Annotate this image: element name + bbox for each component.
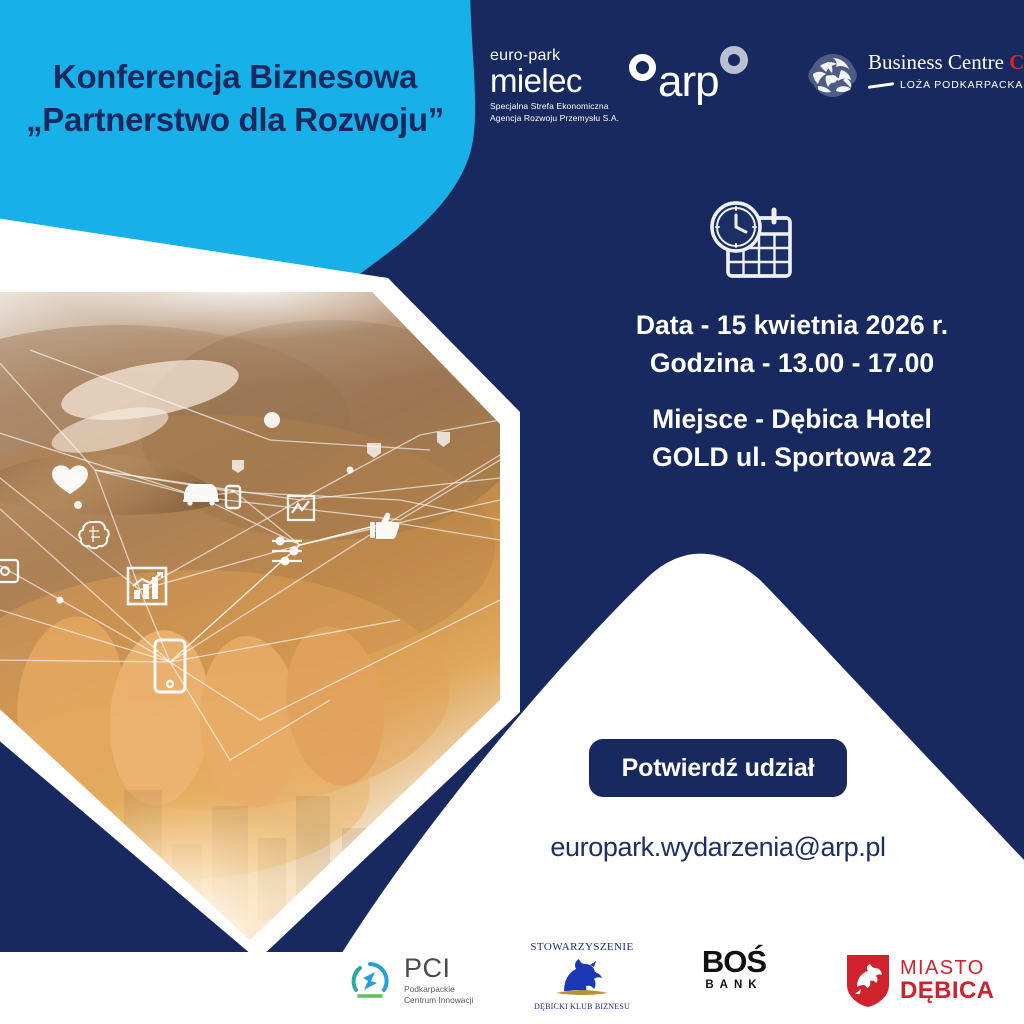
- europark-ring-icon: [629, 54, 656, 81]
- bcc-name: Business Centre Club: [868, 52, 1024, 73]
- debica-line-1: MIASTO: [900, 958, 994, 978]
- bos-wordmark: BOŚ: [682, 948, 786, 976]
- pci-sub: Podkarpackie Centrum Innowacji: [404, 984, 473, 1006]
- partner-logo-row: euro-park mielec Specjalna Strefa Ekonom…: [490, 42, 1024, 134]
- skb-top-text: STOWARZYSZENIE: [528, 942, 636, 953]
- bos-bank-logo: BOŚ BANK: [682, 948, 786, 1018]
- arp-wordmark: arp: [658, 60, 719, 104]
- pci-name: PCI: [404, 956, 473, 981]
- debicki-klub-biznesu-logo: STOWARZYSZENIE DĘBICKI KLUB BIZNESU: [528, 942, 636, 1012]
- poster-canvas: Konferencja Biznesowa „Partnerstwo dla R…: [0, 0, 1024, 1024]
- event-time: Godzina - 13.00 - 17.00: [560, 344, 1024, 382]
- pci-text-block: PCI Podkarpackie Centrum Innowacji: [404, 956, 473, 1006]
- skb-bottom-text: DĘBICKI KLUB BIZNESU: [528, 1003, 636, 1011]
- bcc-text-block: Business Centre Club LOŻA PODKARPACKA: [868, 52, 1024, 91]
- page-title: Konferencja Biznesowa „Partnerstwo dla R…: [0, 56, 470, 142]
- calendar-clock-icon: [700, 196, 800, 288]
- europark-main-text: mielec: [490, 65, 630, 96]
- event-date: Data - 15 kwietnia 2026 r.: [560, 306, 1024, 344]
- debica-line-2: DĘBICA: [900, 978, 994, 1003]
- bcc-name-club: Club: [1009, 50, 1024, 74]
- pci-mark-icon: [345, 956, 395, 1006]
- sponsor-logo-strip: PCI Podkarpackie Centrum Innowacji STOWA…: [0, 940, 1024, 1024]
- griffin-icon: [550, 953, 614, 997]
- debica-text-block: MIASTO DĘBICA: [900, 958, 994, 1003]
- bcc-dash-icon: [868, 82, 894, 89]
- bcc-crest-icon: [802, 50, 864, 102]
- pci-sub-line-1: Podkarpackie: [404, 984, 473, 995]
- contact-email-link[interactable]: europark.wydarzenia@arp.pl: [500, 832, 936, 863]
- europark-mielec-logo: euro-park mielec Specjalna Strefa Ekonom…: [490, 48, 630, 125]
- title-line-1: Konferencja Biznesowa: [0, 56, 470, 99]
- confirm-attendance-label: Potwierdź udział: [622, 754, 815, 783]
- pci-sub-line-2: Centrum Innowacji: [404, 995, 473, 1006]
- europark-sub-line-2: Agencja Rozwoju Przemysłu S.A.: [490, 113, 630, 125]
- bcc-loza-row: LOŻA PODKARPACKA: [868, 79, 1024, 91]
- miasto-debica-logo: MIASTO DĘBICA: [845, 946, 994, 1016]
- event-place-line-2: GOLD ul. Sportowa 22: [560, 438, 1024, 476]
- pci-logo: PCI Podkarpackie Centrum Innowacji: [345, 946, 473, 1016]
- details-spacer: [560, 382, 1024, 400]
- bcc-name-main: Business Centre: [868, 50, 1009, 74]
- event-place-line-1: Miejsce - Dębica Hotel: [560, 400, 1024, 438]
- arp-logo: arp: [658, 60, 719, 104]
- event-details: Data - 15 kwietnia 2026 r. Godzina - 13.…: [560, 306, 1024, 477]
- debica-crest-icon: [845, 953, 891, 1009]
- title-line-2: „Partnerstwo dla Rozwoju”: [0, 99, 470, 142]
- confirm-attendance-button[interactable]: Potwierdź udział: [589, 739, 847, 797]
- arp-ring-icon: [720, 46, 748, 74]
- bos-word-text: BOŚ: [702, 944, 766, 979]
- europark-subtitle: Specjalna Strefa Ekonomiczna Agencja Roz…: [490, 101, 630, 124]
- bos-bank-text: BANK: [682, 979, 786, 991]
- europark-sub-line-1: Specjalna Strefa Ekonomiczna: [490, 101, 630, 113]
- background-shapes: [0, 0, 1024, 1024]
- bcc-loza-text: LOŻA PODKARPACKA: [900, 79, 1023, 91]
